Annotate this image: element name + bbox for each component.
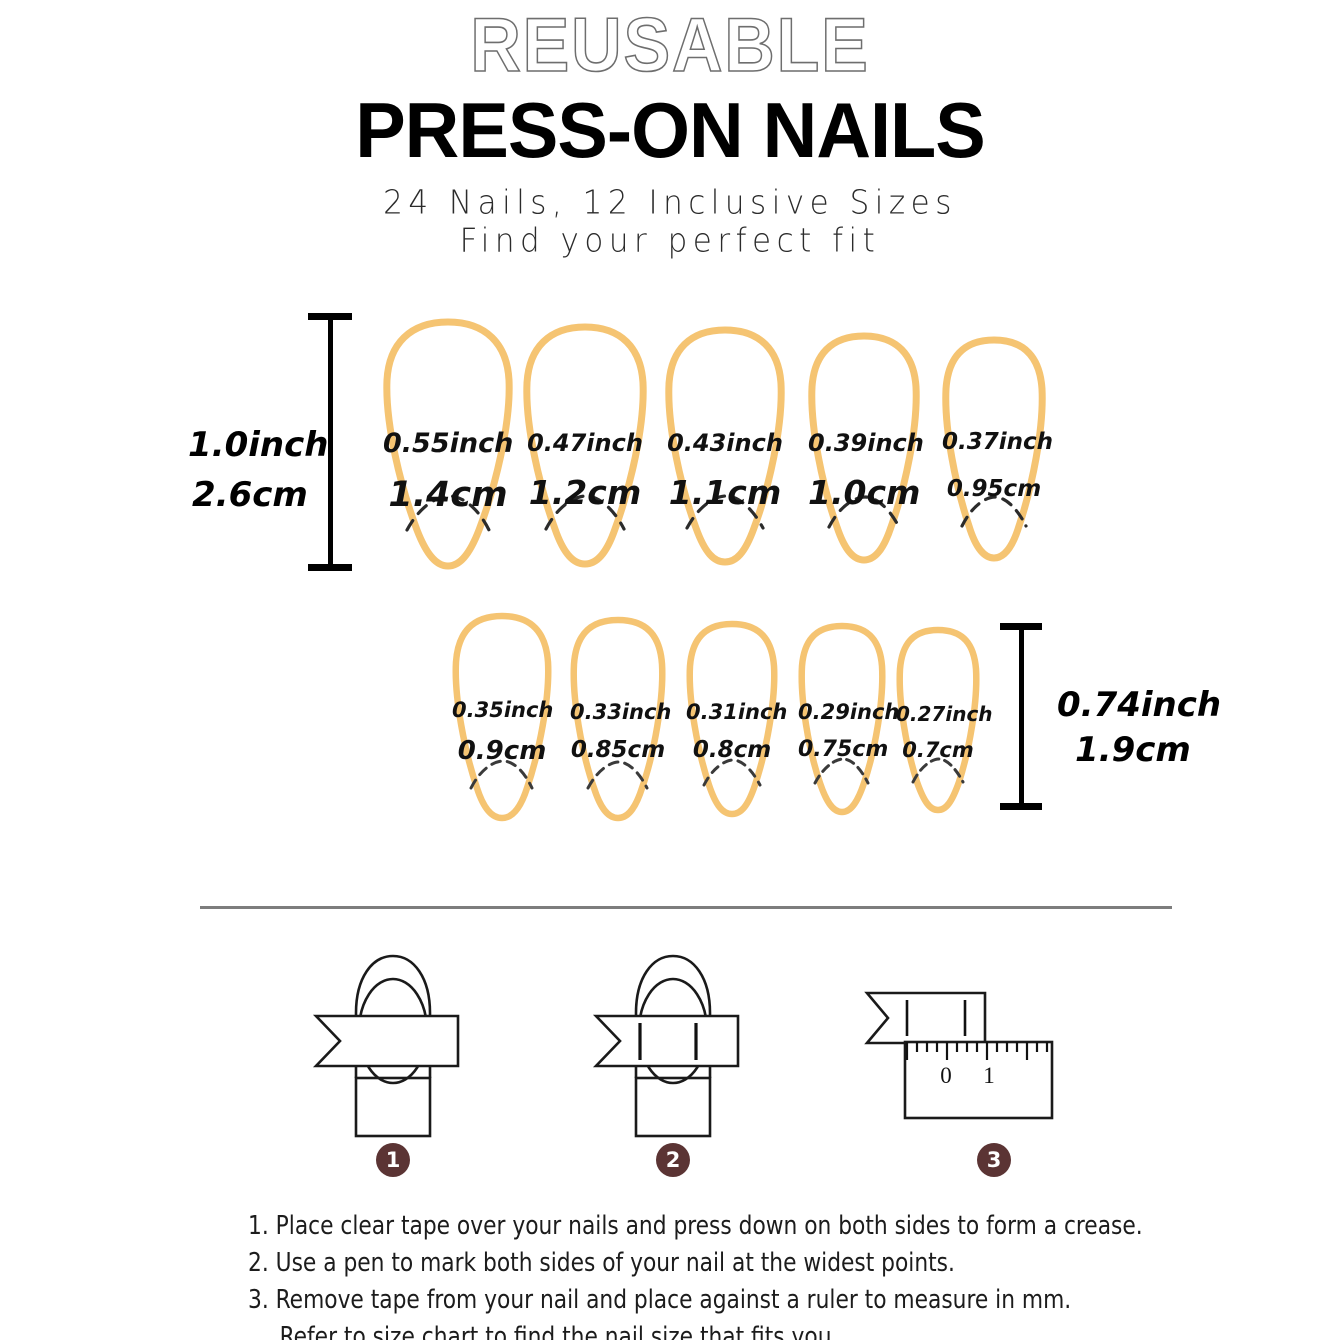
instruction-line-1: 1. Place clear tape over your nails and …	[248, 1208, 1178, 1245]
section-divider	[200, 906, 1172, 909]
nail-row2-size-2: 0.33inch 0.85cm	[570, 616, 666, 822]
nail-inch-label: 0.27inch	[896, 702, 980, 726]
cuticle-dashed-line	[815, 759, 868, 783]
nail-inch-label: 0.29inch	[798, 700, 886, 724]
page-title: PRESS-ON NAILS	[20, 88, 1320, 172]
row2-bracket-cm-label: 1.9cm	[1075, 725, 1191, 775]
nail-cm-label: 0.85cm	[570, 737, 666, 763]
row1-bracket-cm-label: 2.6cm	[192, 470, 308, 520]
nail-row1-size-4: 0.39inch 1.0cm	[808, 332, 920, 564]
nail-inch-label: 0.31inch	[686, 700, 778, 724]
nail-cm-label: 0.8cm	[686, 737, 778, 763]
nail-inch-label: 0.43inch	[665, 429, 785, 457]
instructions-list: 1. Place clear tape over your nails and …	[248, 1208, 1178, 1340]
finger-base	[356, 1078, 430, 1136]
step-1-diagram: 1	[298, 938, 488, 1143]
nail-inch-label: 0.37inch	[942, 429, 1046, 455]
bracket-stem	[1019, 623, 1024, 810]
nail-row1-size-5: 0.37inch 0.95cm	[942, 336, 1046, 562]
finger-base	[636, 1078, 710, 1136]
instruction-line-4: Refer to size chart to find the nail siz…	[248, 1319, 1178, 1340]
nail-row1-size-2: 0.47inch 1.2cm	[523, 323, 647, 568]
nail-cm-label: 0.9cm	[452, 736, 552, 766]
subtitle-line-1: 24 Nails, 12 Inclusive Sizes	[0, 183, 1340, 223]
row1-bracket-inch-label: 1.0inch	[188, 420, 328, 470]
nail-row1-size-1: 0.55inch 1.4cm	[383, 318, 513, 570]
nail-inch-label: 0.35inch	[452, 698, 552, 722]
row2-height-bracket	[1000, 623, 1042, 810]
nail-cm-label: 1.1cm	[665, 473, 785, 512]
bracket-cap-bottom	[308, 564, 352, 571]
nail-row2-size-4: 0.29inch 0.75cm	[798, 622, 886, 816]
step-badge-3: 3	[977, 1143, 1011, 1177]
nail-size-chart-page: REUSABLE PRESS-ON NAILS 24 Nails, 12 Inc…	[0, 0, 1340, 1340]
nail-row2-size-3: 0.31inch 0.8cm	[686, 620, 778, 818]
nail-row1-size-3: 0.43inch 1.1cm	[665, 326, 785, 566]
tape-banner	[867, 993, 985, 1043]
tape-banner	[316, 1016, 458, 1066]
ruler-tick-label-0: 0	[940, 1063, 952, 1088]
row2-bracket-inch-label: 0.74inch	[1057, 680, 1221, 730]
cuticle-dashed-line	[913, 759, 963, 782]
step-badge-2: 2	[656, 1143, 690, 1177]
instruction-line-2: 2. Use a pen to mark both sides of your …	[248, 1245, 1178, 1282]
step-2-diagram: 2	[578, 938, 768, 1143]
eyebrow-heading: REUSABLE	[54, 6, 1287, 86]
cuticle-dashed-line	[704, 760, 760, 785]
subtitle-line-2: Find your perfect fit	[0, 221, 1340, 261]
nail-cm-label: 1.4cm	[383, 475, 513, 515]
bracket-cap-bottom	[1000, 803, 1042, 810]
nail-cm-label: 0.95cm	[942, 476, 1046, 502]
nail-row2-size-5: 0.27inch 0.7cm	[896, 626, 980, 814]
ruler-body	[905, 1042, 1052, 1118]
nail-cm-label: 0.7cm	[896, 738, 980, 762]
tape-banner	[596, 1016, 738, 1066]
nail-cm-label: 0.75cm	[798, 737, 886, 762]
nail-inch-label: 0.39inch	[808, 429, 920, 457]
cuticle-dashed-line	[588, 762, 647, 788]
nail-cm-label: 1.0cm	[808, 473, 920, 512]
nail-inch-label: 0.33inch	[570, 700, 666, 724]
nail-row2-size-1: 0.35inch 0.9cm	[452, 612, 552, 822]
nail-inch-label: 0.55inch	[383, 428, 513, 459]
ruler-tick-label-1: 1	[983, 1063, 995, 1088]
step-3-diagram: 0 1 3	[855, 938, 1065, 1143]
nail-inch-label: 0.47inch	[523, 429, 647, 457]
step-badge-1: 1	[376, 1143, 410, 1177]
nail-cm-label: 1.2cm	[523, 473, 647, 512]
instruction-line-3: 3. Remove tape from your nail and place …	[248, 1282, 1178, 1319]
